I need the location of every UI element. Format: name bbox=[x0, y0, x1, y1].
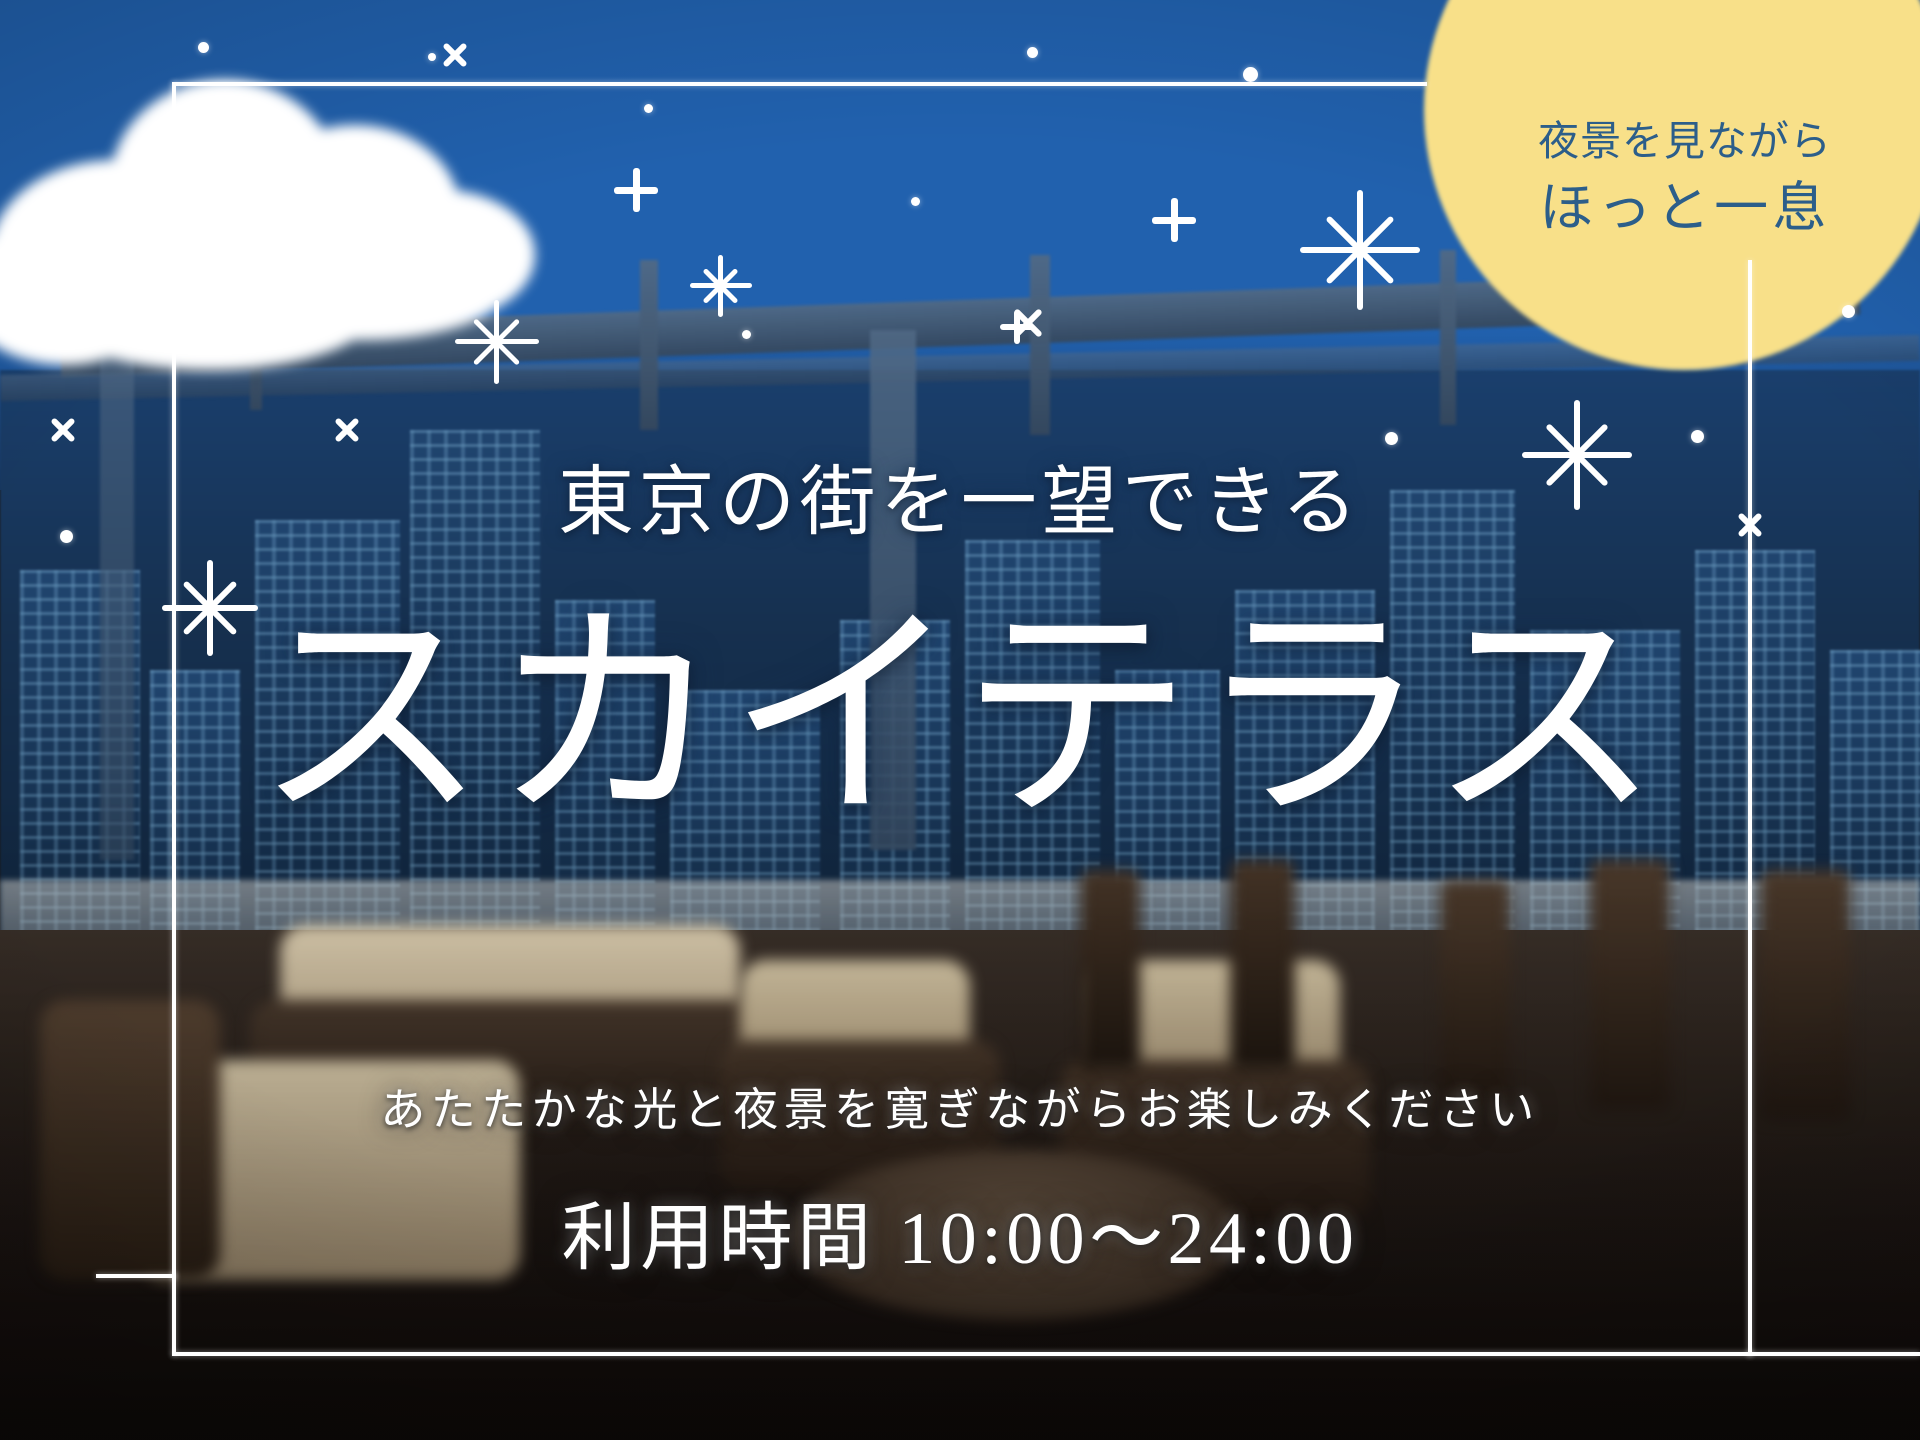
star-dot bbox=[1842, 305, 1855, 318]
hours-text: 利用時間 10:00〜24:00 bbox=[0, 1178, 1920, 1285]
headline-sub: 東京の街を一望できる bbox=[0, 440, 1920, 550]
plus-star-icon bbox=[614, 168, 658, 212]
badge-line-2: ほっと一息 bbox=[1420, 170, 1920, 247]
sparkle-star-icon bbox=[690, 255, 752, 317]
star-dot bbox=[911, 197, 920, 206]
plus-star-icon bbox=[1152, 198, 1196, 242]
frame-bottom-line bbox=[172, 1352, 1752, 1356]
star-dot bbox=[428, 53, 436, 61]
star-dot bbox=[1243, 67, 1258, 82]
frame-top-line bbox=[172, 82, 1427, 86]
star-dot bbox=[1027, 47, 1038, 58]
star-dot bbox=[644, 104, 653, 113]
note-text: あたたかな光と夜景を寛ぎながらお楽しみください bbox=[0, 1073, 1920, 1138]
star-dot bbox=[198, 42, 209, 53]
star-dot bbox=[742, 330, 751, 339]
frame-right-notch bbox=[1748, 1352, 1920, 1356]
frame-bottomleft-stub bbox=[172, 1274, 176, 1356]
badge-line-1: 夜景を見ながら bbox=[1420, 112, 1920, 170]
sparkle-star-icon bbox=[1300, 190, 1420, 310]
badge-text: 夜景を見ながら ほっと一息 bbox=[1420, 112, 1920, 247]
headline-main: スカイテラス bbox=[0, 600, 1920, 832]
sparkle-star-icon bbox=[455, 300, 539, 384]
poster-canvas: 夜景を見ながら ほっと一息 bbox=[0, 0, 1920, 1440]
